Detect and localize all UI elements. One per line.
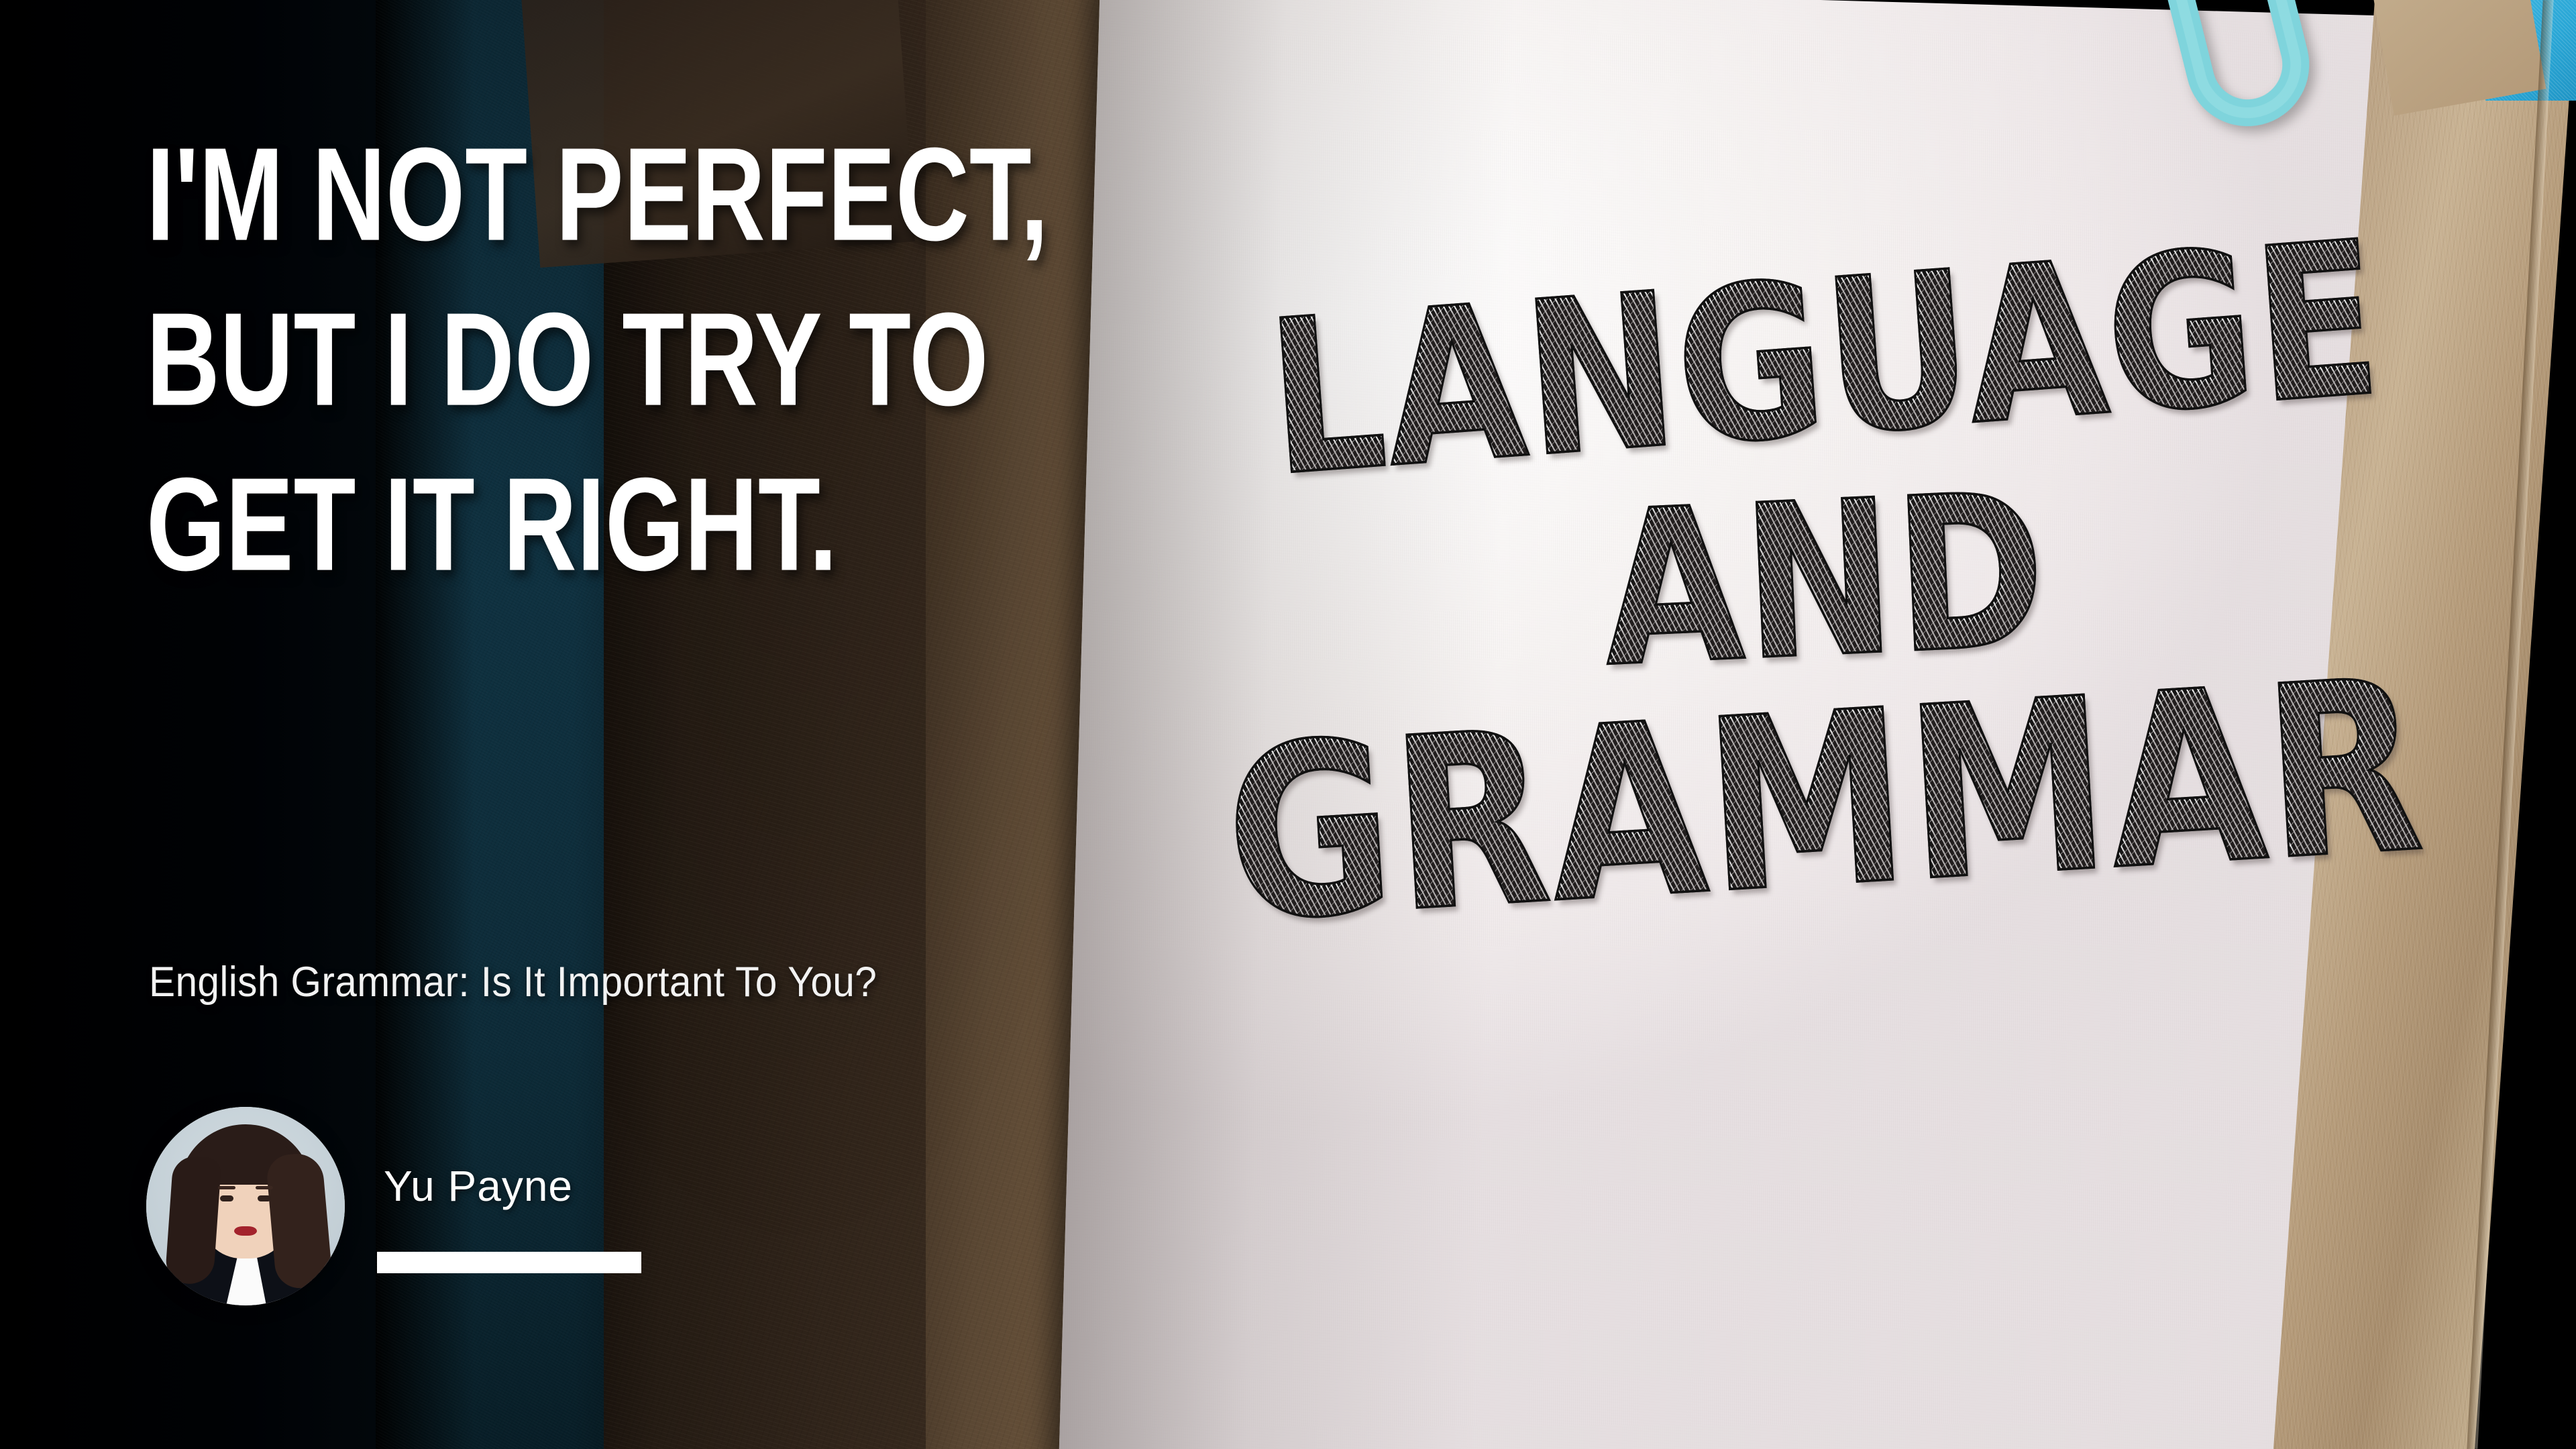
avatar-eye-left <box>220 1195 233 1201</box>
avatar-hair-left <box>164 1155 221 1286</box>
author-row: Yu Payne <box>146 1107 573 1305</box>
headline-line-3: GET IT RIGHT. <box>146 482 1381 568</box>
headline-line-2: BUT I DO TRY TO <box>146 317 1381 403</box>
subtitle: English Grammar: Is It Important To You? <box>149 958 877 1006</box>
avatar-eye-right <box>258 1195 271 1201</box>
author-underline-bar <box>377 1252 641 1273</box>
headline-line-1: I'M NOT PERFECT, <box>146 152 1381 238</box>
author-name: Yu Payne <box>384 1161 573 1211</box>
avatar <box>146 1107 345 1305</box>
quote-card: LANGUAGE AND GRAMMAR I'M NOT PERFECT, BU… <box>0 0 2576 1449</box>
avatar-eyebrow-left <box>218 1186 235 1189</box>
avatar-lips <box>234 1226 257 1236</box>
headline: I'M NOT PERFECT, BUT I DO TRY TO GET IT … <box>146 153 1689 566</box>
avatar-eyebrow-right <box>256 1186 273 1189</box>
